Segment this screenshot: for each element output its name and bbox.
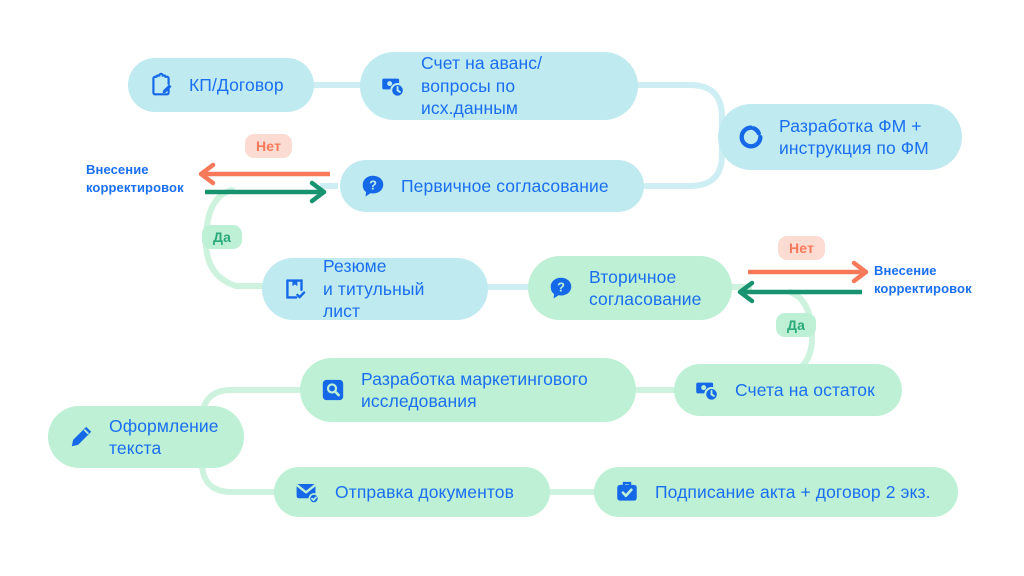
bookmark-check-icon bbox=[280, 274, 310, 304]
node-pervichnoe-soglasovanie[interactable]: ? Первичное согласование bbox=[340, 160, 644, 212]
arrow-yes-2-head bbox=[740, 283, 752, 301]
node-label: Разработка ФМ + инструкция по ФМ bbox=[779, 115, 929, 160]
pencil-icon bbox=[66, 422, 96, 452]
node-razrabotka-marketingovogo[interactable]: Разработка маркетингового исследования bbox=[300, 358, 636, 422]
node-podpisanie-akta[interactable]: Подписание акта + договор 2 экз. bbox=[594, 467, 958, 517]
chip-yes-1: Да bbox=[202, 225, 242, 249]
caption-corrections-right: Внесение корректировок bbox=[874, 262, 1004, 297]
chip-yes-2: Да bbox=[776, 313, 816, 337]
node-label: КП/Договор bbox=[189, 74, 284, 96]
clipboard-pencil-icon bbox=[146, 70, 176, 100]
arrow-no-2-head bbox=[854, 263, 866, 281]
node-label: Оформление текста bbox=[109, 415, 219, 460]
node-rezume-titulnyi-list[interactable]: Резюме и титульный лист bbox=[262, 258, 488, 320]
money-clock-icon bbox=[692, 375, 722, 405]
node-label: Резюме и титульный лист bbox=[323, 255, 466, 322]
node-label: Счета на остаток bbox=[735, 379, 875, 401]
node-kp-dogovor[interactable]: КП/Договор bbox=[128, 58, 314, 112]
node-oformlenie-teksta[interactable]: Оформление текста bbox=[48, 406, 244, 468]
search-square-icon bbox=[318, 375, 348, 405]
node-label: Первичное согласование bbox=[401, 175, 609, 197]
briefcase-check-icon bbox=[612, 477, 642, 507]
money-clock-icon bbox=[378, 71, 408, 101]
svg-text:?: ? bbox=[369, 178, 377, 193]
question-bubble-icon: ? bbox=[546, 273, 576, 303]
wire-advance-fm bbox=[636, 85, 722, 135]
node-otpravka-dokumentov[interactable]: Отправка документов bbox=[274, 467, 550, 517]
node-label: Разработка маркетингового исследования bbox=[361, 368, 588, 413]
chip-no-2: Нет bbox=[778, 236, 825, 260]
arrow-yes-1-head bbox=[312, 183, 324, 201]
node-scheta-na-ostatok[interactable]: Счета на остаток bbox=[674, 364, 902, 416]
svg-text:?: ? bbox=[557, 280, 565, 295]
node-label: Вторичное согласование bbox=[589, 266, 702, 311]
node-label: Отправка документов bbox=[335, 481, 514, 503]
caption-corrections-left: Внесение корректировок bbox=[86, 161, 206, 196]
node-label: Подписание акта + договор 2 экз. bbox=[655, 481, 931, 503]
wire-fm-approval1 bbox=[646, 137, 722, 186]
node-vtorichnoe-soglasovanie[interactable]: ? Вторичное согласование bbox=[528, 256, 732, 320]
mail-check-icon bbox=[292, 477, 322, 507]
chip-no-1: Нет bbox=[245, 134, 292, 158]
node-label: Счет на аванс/ вопросы по исх.данным bbox=[421, 52, 616, 119]
question-bubble-icon: ? bbox=[358, 171, 388, 201]
node-razrabotka-fm[interactable]: Разработка ФМ + инструкция по ФМ bbox=[718, 104, 962, 170]
flowchart-canvas: КП/Договор Счет на аванс/ вопросы по исх… bbox=[0, 0, 1024, 576]
donut-chart-icon bbox=[736, 122, 766, 152]
node-schet-na-avans[interactable]: Счет на аванс/ вопросы по исх.данным bbox=[360, 52, 638, 120]
